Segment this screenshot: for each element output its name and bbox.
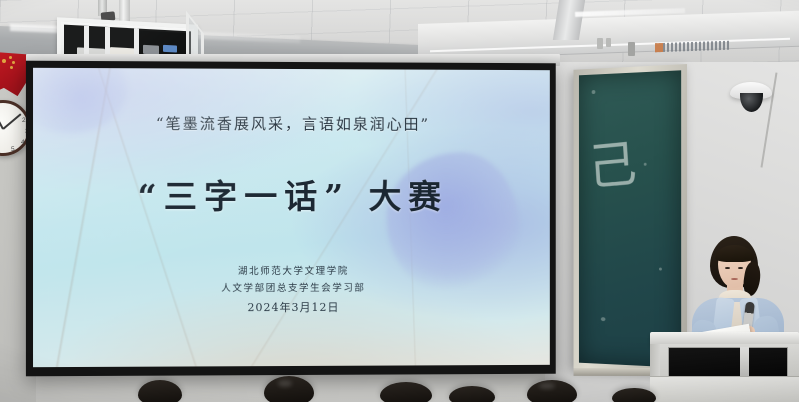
- clock-number: 4: [21, 139, 25, 146]
- podium-recess-divider: [740, 347, 749, 377]
- audience-head: [380, 382, 432, 402]
- chalkboard-frame: 己: [574, 64, 687, 374]
- cage-equipment: [163, 45, 177, 53]
- audience-head: [449, 386, 495, 402]
- slide-org-line-2: 人文学部团总支学生会学习部: [221, 280, 365, 297]
- classroom-photo: 2 3 4 5 “笔墨流香展风采，言语如泉润心田” “三字一话” 大赛 湖北师范…: [0, 0, 799, 402]
- wall-fitting: [597, 38, 603, 49]
- slide-subtitle: “笔墨流香展风采，言语如泉润心田”: [156, 113, 430, 135]
- chalkboard: 己: [579, 70, 681, 367]
- projection-screen: “笔墨流香展风采，言语如泉润心田” “三字一话” 大赛 湖北师范大学文理学院 人…: [33, 68, 550, 367]
- chalk-writing: 己: [586, 122, 639, 199]
- podium-monitor-recess: [668, 347, 788, 377]
- slide-organization: 湖北师范大学文理学院 人文学部团总支学生会学习部: [221, 264, 365, 298]
- projector-mount-stem: [119, 0, 130, 22]
- speaker-person: [686, 236, 790, 340]
- slide-date: 2024年3月12日: [247, 299, 339, 315]
- audience-head: [612, 388, 656, 402]
- clock-minute-hand: [3, 113, 22, 129]
- wall-fitting: [606, 38, 611, 47]
- wall-fitting: [628, 42, 635, 56]
- podium-front-panel: [650, 376, 799, 402]
- slide-content: “笔墨流香展风采，言语如泉润心田” “三字一话” 大赛 湖北师范大学文理学院 人…: [33, 68, 550, 367]
- slide-org-line-1: 湖北师范大学文理学院: [221, 264, 365, 281]
- clock-number: 5: [11, 146, 15, 153]
- slide-title: “三字一话” 大赛: [138, 170, 448, 218]
- speaker-mouth: [731, 278, 738, 280]
- projection-screen-frame: “笔墨流香展风采，言语如泉润心田” “三字一话” 大赛 湖北师范大学文理学院 人…: [26, 61, 556, 377]
